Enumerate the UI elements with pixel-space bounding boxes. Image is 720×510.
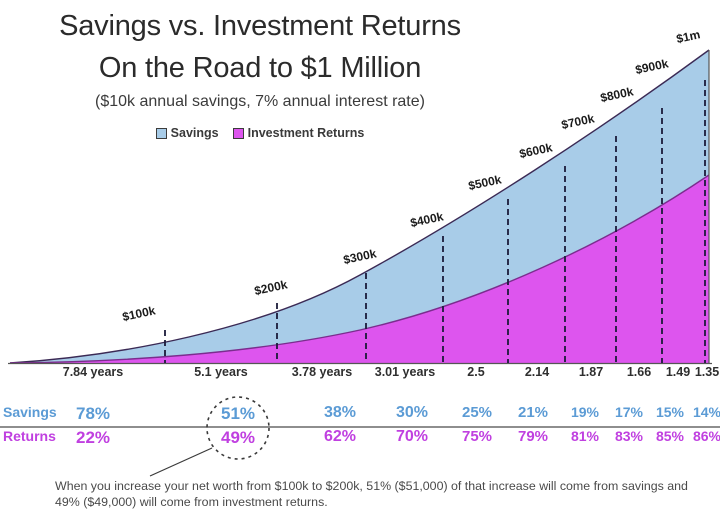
percent-table: Savings 78% 51% 38% 30% 25% 21% 19% 17% … bbox=[0, 400, 720, 456]
year-label-row: 7.84 years 5.1 years 3.78 years 3.01 yea… bbox=[0, 365, 720, 385]
year-label-6: 1.87 bbox=[579, 365, 603, 379]
cell-savings-3: 30% bbox=[396, 404, 428, 422]
area-chart-svg bbox=[0, 0, 720, 372]
cell-savings-2: 38% bbox=[324, 404, 356, 422]
cell-savings-8: 15% bbox=[656, 404, 684, 420]
cell-returns-8: 85% bbox=[656, 428, 684, 444]
year-label-3: 3.01 years bbox=[375, 365, 435, 379]
table-row-savings: Savings 78% 51% 38% 30% 25% 21% 19% 17% … bbox=[0, 404, 720, 426]
cell-returns-9: 86% bbox=[693, 428, 720, 444]
cell-returns-5: 79% bbox=[518, 428, 548, 445]
cell-savings-5: 21% bbox=[518, 404, 548, 421]
year-label-5: 2.14 bbox=[525, 365, 549, 379]
year-label-0: 7.84 years bbox=[63, 365, 123, 379]
cell-savings-9: 14% bbox=[693, 404, 720, 420]
plot-area: $100k $200k $300k $400k $500k $600k $700… bbox=[0, 0, 720, 372]
chart-caption: When you increase your net worth from $1… bbox=[55, 478, 695, 510]
cell-returns-6: 81% bbox=[571, 428, 599, 444]
year-label-8: 1.49 bbox=[666, 365, 690, 379]
cell-returns-0: 22% bbox=[76, 428, 110, 448]
cell-returns-3: 70% bbox=[396, 428, 428, 446]
cell-savings-6: 19% bbox=[571, 404, 599, 420]
year-label-7: 1.66 bbox=[627, 365, 651, 379]
chart-canvas: Savings vs. Investment Returns On the Ro… bbox=[0, 0, 720, 509]
row-label-savings: Savings bbox=[3, 404, 57, 420]
row-label-returns: Returns bbox=[3, 428, 56, 444]
year-label-2: 3.78 years bbox=[292, 365, 352, 379]
cell-returns-4: 75% bbox=[462, 428, 492, 445]
cell-returns-1: 49% bbox=[221, 428, 255, 448]
table-row-returns: Returns 22% 49% 62% 70% 75% 79% 81% 83% … bbox=[0, 428, 720, 450]
year-label-1: 5.1 years bbox=[194, 365, 248, 379]
cell-returns-7: 83% bbox=[615, 428, 643, 444]
year-label-4: 2.5 bbox=[467, 365, 484, 379]
year-label-9: 1.35 bbox=[695, 365, 719, 379]
cell-returns-2: 62% bbox=[324, 428, 356, 446]
cell-savings-0: 78% bbox=[76, 404, 110, 424]
cell-savings-1: 51% bbox=[221, 404, 255, 424]
cell-savings-7: 17% bbox=[615, 404, 643, 420]
cell-savings-4: 25% bbox=[462, 404, 492, 421]
